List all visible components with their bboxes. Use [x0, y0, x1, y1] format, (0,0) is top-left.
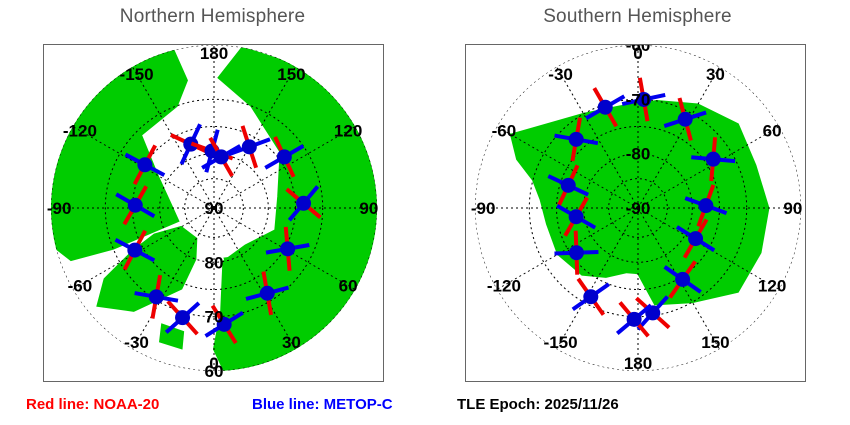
satellite-marker: [675, 272, 690, 287]
longitude-tick-label: -60: [492, 122, 517, 141]
longitude-tick-label: -60: [68, 276, 93, 295]
satellite-marker: [627, 312, 642, 327]
satellite-marker: [175, 310, 190, 325]
panel-northern-hemisphere: Northern Hemisphere 90807060180150120906…: [0, 0, 425, 385]
legend-blue-line: Blue line: METOP-C: [252, 396, 393, 413]
satellite-marker: [678, 112, 693, 127]
satellite-marker: [706, 152, 721, 167]
satellite-marker: [127, 243, 142, 258]
longitude-tick-label: -120: [63, 122, 97, 141]
longitude-tick-label: 30: [706, 65, 725, 84]
polar-plot-north: 908070601801501209060300-30-60-90-120-15…: [44, 45, 383, 381]
longitude-tick-label: -120: [487, 276, 521, 295]
legend: Red line: NOAA-20 Blue line: METOP-C TLE…: [0, 388, 850, 425]
legend-red-line: Red line: NOAA-20: [26, 396, 159, 413]
plot-frame-south: -90-80-70-60-60-300306090120150180-150-1…: [465, 44, 806, 382]
longitude-tick-label: 90: [783, 199, 802, 218]
satellite-marker: [598, 100, 613, 115]
longitude-tick-label: 90: [359, 199, 378, 218]
satellite-marker: [583, 289, 598, 304]
latitude-tick-label: -80: [626, 145, 651, 164]
satellite-marker: [296, 196, 311, 211]
longitude-tick-label: -90: [47, 199, 72, 218]
longitude-tick-label: 0: [209, 354, 218, 373]
panel-southern-hemisphere: Southern Hemisphere -90-80-70-60-60-3003…: [425, 0, 850, 385]
latitude-tick-label: -90: [626, 199, 651, 218]
satellite-marker: [569, 245, 584, 260]
satellite-marker: [698, 198, 713, 213]
satellite-marker: [242, 139, 257, 154]
latitude-tick-label: 70: [205, 308, 224, 327]
legend-tle-epoch: TLE Epoch: 2025/11/26: [457, 396, 619, 413]
longitude-tick-label: -30: [124, 333, 149, 352]
longitude-tick-label: -150: [120, 65, 154, 84]
longitude-tick-label: 180: [624, 354, 652, 373]
longitude-tick-label: 30: [282, 333, 301, 352]
satellite-marker: [277, 149, 292, 164]
satellite-track-figure: Northern Hemisphere 90807060180150120906…: [0, 0, 850, 425]
satellite-marker: [260, 286, 275, 301]
longitude-tick-label: -90: [471, 199, 496, 218]
longitude-tick-label: -150: [544, 333, 578, 352]
page-title-north: Northern Hemisphere: [0, 6, 425, 28]
longitude-tick-label: 0: [633, 45, 642, 63]
satellite-marker: [688, 231, 703, 246]
longitude-tick-label: 60: [339, 276, 358, 295]
satellite-marker: [280, 241, 295, 256]
satellite-marker: [137, 157, 152, 172]
satellite-marker: [561, 178, 576, 193]
plot-frame-north: 908070601801501209060300-30-60-90-120-15…: [43, 44, 384, 382]
longitude-tick-label: -30: [548, 65, 573, 84]
longitude-tick-label: 150: [277, 65, 305, 84]
polar-plot-south: -90-80-70-60-60-300306090120150180-150-1…: [466, 45, 805, 381]
satellite-marker: [569, 132, 584, 147]
satellite-marker: [128, 198, 143, 213]
satellite-marker: [569, 209, 584, 224]
latitude-tick-label: 90: [205, 199, 224, 218]
latitude-tick-label: -70: [626, 90, 651, 109]
longitude-tick-label: 120: [334, 122, 362, 141]
satellite-marker: [214, 149, 229, 164]
latitude-tick-label: 80: [205, 253, 224, 272]
satellite-marker: [149, 289, 164, 304]
longitude-tick-label: 60: [763, 122, 782, 141]
longitude-tick-label: 150: [701, 333, 729, 352]
longitude-tick-label: 120: [758, 276, 786, 295]
longitude-tick-label: 180: [200, 45, 228, 63]
page-title-south: Southern Hemisphere: [425, 6, 850, 28]
